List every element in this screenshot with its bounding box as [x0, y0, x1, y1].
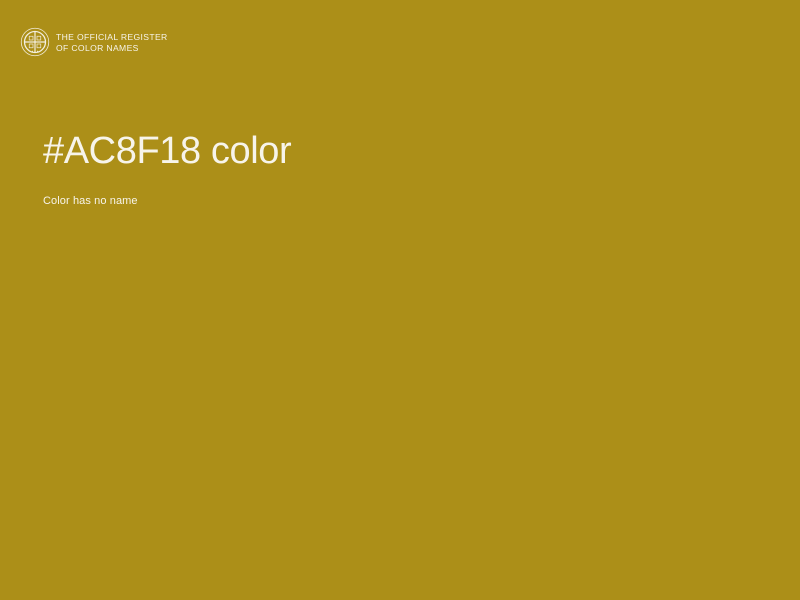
color-name-status: Color has no name	[43, 174, 743, 209]
brand-wordmark: THE OFFICIAL REGISTER OF COLOR NAMES	[56, 32, 168, 53]
brand-line-1: THE OFFICIAL REGISTER	[56, 32, 168, 42]
color-swatch-page: THE OFFICIAL REGISTER OF COLOR NAMES #AC…	[0, 0, 800, 600]
register-seal-icon	[20, 27, 50, 57]
brand-lockup[interactable]: THE OFFICIAL REGISTER OF COLOR NAMES	[20, 27, 168, 57]
page-title: #AC8F18 color	[43, 128, 743, 174]
brand-line-2: OF COLOR NAMES	[56, 43, 168, 53]
color-info: #AC8F18 color Color has no name	[43, 128, 743, 209]
